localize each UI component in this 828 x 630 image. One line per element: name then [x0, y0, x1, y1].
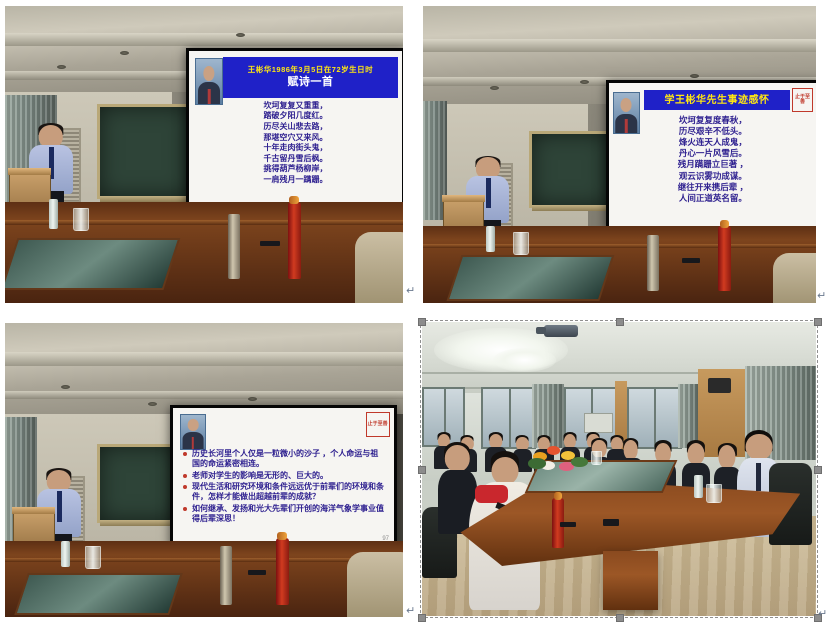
thermos-flask — [228, 214, 240, 279]
slide-title-line-1: 王彬华1986年3月5日在72岁生日时 — [248, 66, 373, 75]
portrait-tie — [192, 437, 194, 448]
ceiling — [5, 323, 403, 417]
selection-handle-bottom-left[interactable] — [418, 614, 426, 622]
seal-text: 止于至善 — [793, 95, 812, 105]
ceiling-band-1 — [423, 39, 816, 52]
podium-top — [12, 507, 55, 514]
poem-line: 历尽关山悲去路， — [189, 122, 402, 133]
paragraph-mark: ↵ — [817, 291, 826, 302]
glass-cup — [73, 208, 89, 231]
thermos-flask — [220, 546, 232, 605]
poem-line: 那堪空穴又来风。 — [189, 133, 402, 144]
selection-handle-middle-left[interactable] — [418, 466, 426, 474]
thermos-flask — [647, 235, 659, 291]
head — [623, 440, 638, 460]
portrait-photo — [180, 414, 206, 450]
slide-title-banner: 学王彬华先生事迹感怀 — [644, 90, 790, 110]
table-glass-inlay — [447, 255, 615, 301]
paragraph-mark: ↵ — [406, 606, 415, 617]
head — [719, 445, 736, 469]
slide-poem: 坎坷复复又重重， 踏破夕阳几度红。 历尽关山悲去路， 那堪空穴又来风。 十年走肉… — [189, 101, 402, 185]
selection-handle-middle-right[interactable] — [814, 466, 822, 474]
red-vacuum-flask — [718, 226, 731, 291]
projection-screen: 王彬华1986年3月5日在72岁生日时 赋诗一首 坎坷复复又重重， 踏破夕阳几度… — [186, 48, 403, 211]
selection-handle-top-center[interactable] — [616, 318, 624, 326]
ceiling-band-2 — [5, 391, 403, 400]
poem-line: 观云识雾功成谋。 — [609, 171, 816, 182]
ceiling-band-1 — [5, 352, 403, 365]
projector — [544, 325, 578, 337]
mobile-phone — [560, 522, 576, 527]
lecture-room-scene: 止于至善 历史长河里个人仅是一粒微小的沙子 ，个人命运与祖国的命运紧密相连。 老… — [5, 323, 403, 617]
mobile-phone — [682, 258, 700, 263]
poem-line: 坎坷复复又重重， — [189, 101, 402, 112]
slide-title-line-2: 赋诗一首 — [287, 76, 333, 89]
poem-line: 挑得葫芦杨柳岸， — [189, 164, 402, 175]
ceiling-light — [493, 348, 556, 372]
photo-meeting-room-discussion[interactable] — [422, 322, 816, 616]
selection-handle-top-right[interactable] — [814, 318, 822, 326]
photo-lecture-bullet-slide[interactable]: 止于至善 历史长河里个人仅是一粒微小的沙子 ，个人命运与祖国的命运紧密相连。 老… — [5, 323, 403, 617]
head — [745, 434, 772, 461]
slide-1: 王彬华1986年3月5日在72岁生日时 赋诗一首 坎坷复复又重重， 踏破夕阳几度… — [189, 51, 402, 208]
poem-line: 坎坷复复度春秋， — [609, 115, 816, 126]
ceiling-band-1 — [5, 33, 403, 46]
flower-arrangement — [528, 443, 591, 478]
portrait-head — [204, 66, 215, 81]
blackboard — [529, 131, 610, 208]
projection-screen: 学王彬华先生事迹感怀 止于至善 坎坷复复度春秋， 历尽艰辛不低头。 烽火连天人成… — [606, 80, 816, 229]
glass-cup — [513, 232, 529, 255]
poem-line: 千古留丹雪后枫。 — [189, 154, 402, 165]
paragraph-mark: ↵ — [818, 609, 827, 620]
foreground-chair — [347, 552, 403, 617]
table-edge — [5, 220, 403, 225]
seal-stamp-icon: 止于至善 — [792, 88, 813, 113]
paragraph-mark: ↵ — [406, 286, 415, 297]
table-edge — [423, 244, 816, 248]
bullet-item: 现代生活和研究环境和条件远远优于前辈们的环境和条件，怎样才能做出超越前辈的成就？ — [192, 482, 385, 503]
slide-title-banner: 王彬华1986年3月5日在72岁生日时 赋诗一首 — [223, 57, 398, 98]
poem-line: 历尽艰辛不低头。 — [609, 126, 816, 137]
photo-1-content: 王彬华1986年3月5日在72岁生日时 赋诗一首 坎坷复复又重重， 踏破夕阳几度… — [5, 6, 403, 303]
projection-screen: 止于至善 历史长河里个人仅是一粒微小的沙子 ，个人命运与祖国的命运紧密相连。 老… — [170, 405, 397, 546]
water-bottle — [49, 199, 58, 229]
wall-clock — [708, 378, 732, 393]
poem-line: 十年走肉街头鬼， — [189, 143, 402, 154]
head — [445, 445, 469, 471]
necktie — [756, 463, 761, 492]
foliage — [528, 458, 546, 469]
bullet-item: 如何继承、发扬和光大先辈们开创的海洋气象学事业值得后辈深思！ — [192, 504, 385, 525]
chalk-tray — [100, 520, 176, 526]
poem-line: 丹心一片风雪后。 — [609, 148, 816, 159]
head — [687, 443, 704, 465]
slide-title-line-1: 学王彬华先生事迹感怀 — [665, 95, 770, 107]
poem-line: 残月蹒跚立巨著 ， — [609, 159, 816, 170]
meeting-room-scene — [422, 322, 816, 616]
selection-handle-top-left[interactable] — [418, 318, 426, 326]
podium-top — [442, 195, 484, 202]
foliage — [571, 457, 587, 468]
table-glass-inlay — [5, 238, 181, 290]
slide-2: 学王彬华先生事迹感怀 止于至善 坎坷复复度春秋， 历尽艰辛不低头。 烽火连天人成… — [609, 83, 816, 226]
mobile-phone — [260, 241, 280, 246]
poem-line: 踏破夕阳几度红。 — [189, 111, 402, 122]
poem-line: 烽火连天人成鬼， — [609, 137, 816, 148]
photo-4-content — [422, 322, 816, 616]
window-curtain — [678, 384, 698, 449]
document-page: 王彬华1986年3月5日在72岁生日时 赋诗一首 坎坷复复又重重， 踏破夕阳几度… — [0, 0, 828, 630]
blackboard — [97, 104, 191, 199]
bullet-item: 历史长河里个人仅是一粒微小的沙子 ，个人命运与祖国的命运紧密相连。 — [192, 449, 385, 470]
glass-cup — [85, 546, 101, 569]
portrait-head — [188, 419, 199, 430]
downlight-icon — [120, 51, 129, 55]
table-glass-inlay — [14, 573, 183, 615]
bullet-item: 老师对学生的影响是无形的、巨大的。 — [192, 471, 385, 481]
downlight-icon — [61, 385, 70, 389]
chalk-tray — [532, 205, 607, 211]
red-scarf — [475, 485, 508, 503]
water-bottle — [486, 226, 495, 253]
photo-2-content: 学王彬华先生事迹感怀 止于至善 坎坷复复度春秋， 历尽艰辛不低头。 烽火连天人成… — [423, 6, 816, 303]
lecture-room-scene: 王彬华1986年3月5日在72岁生日时 赋诗一首 坎坷复复又重重， 踏破夕阳几度… — [5, 6, 403, 303]
selection-handle-bottom-center[interactable] — [616, 614, 624, 622]
water-bottle — [61, 541, 70, 567]
photo-3-content: 止于至善 历史长河里个人仅是一粒微小的沙子 ，个人命运与祖国的命运紧密相连。 老… — [5, 323, 403, 617]
bullet-list: 历史长河里个人仅是一粒微小的沙子 ，个人命运与祖国的命运紧密相连。 老师对学生的… — [182, 449, 385, 525]
photo-lecture-poem-slide-1[interactable]: 王彬华1986年3月5日在72岁生日时 赋诗一首 坎坷复复又重重， 踏破夕阳几度… — [5, 6, 403, 303]
blackboard — [97, 444, 179, 524]
water-bottle — [694, 475, 703, 499]
air-conditioner — [584, 413, 614, 433]
photo-lecture-poem-slide-2[interactable]: 学王彬华先生事迹感怀 止于至善 坎坷复复度春秋， 历尽艰辛不低头。 烽火连天人成… — [423, 6, 816, 303]
slide-3: 止于至善 历史长河里个人仅是一粒微小的沙子 ，个人命运与祖国的命运紧密相连。 老… — [173, 408, 394, 543]
foreground-chair — [355, 232, 403, 303]
table-leg — [603, 551, 658, 610]
red-vacuum-flask — [288, 202, 301, 279]
lecture-room-scene: 学王彬华先生事迹感怀 止于至善 坎坷复复度春秋， 历尽艰辛不低头。 烽火连天人成… — [423, 6, 816, 303]
head — [491, 457, 518, 485]
portrait-head — [621, 98, 632, 112]
speaker-tie — [486, 178, 491, 208]
poem-line: 一肩残月一蹒跚。 — [189, 175, 402, 186]
glass-cup — [591, 451, 602, 465]
flower — [547, 446, 560, 454]
seal-stamp-icon: 止于至善 — [366, 412, 390, 437]
foreground-chair — [773, 253, 816, 304]
poem-line: 继往开来携后辈 ， — [609, 182, 816, 193]
podium-top — [8, 168, 51, 175]
mobile-phone — [248, 570, 266, 575]
downlight-icon — [248, 397, 257, 401]
speaker-tie — [57, 491, 62, 522]
portrait-photo — [195, 58, 223, 104]
slide-poem: 坎坷复复度春秋， 历尽艰辛不低头。 烽火连天人成鬼， 丹心一片风雪后。 残月蹒跚… — [609, 115, 816, 205]
remote-control — [603, 519, 619, 526]
glass-cup — [706, 484, 722, 504]
red-vacuum-flask — [276, 538, 289, 606]
seal-text: 止于至善 — [368, 422, 388, 427]
downlight-icon — [236, 33, 245, 37]
slide-bullets: 历史长河里个人仅是一粒微小的沙子 ，个人命运与祖国的命运紧密相连。 老师对学生的… — [182, 449, 385, 526]
poem-line: 人间正道英名留。 — [609, 193, 816, 204]
